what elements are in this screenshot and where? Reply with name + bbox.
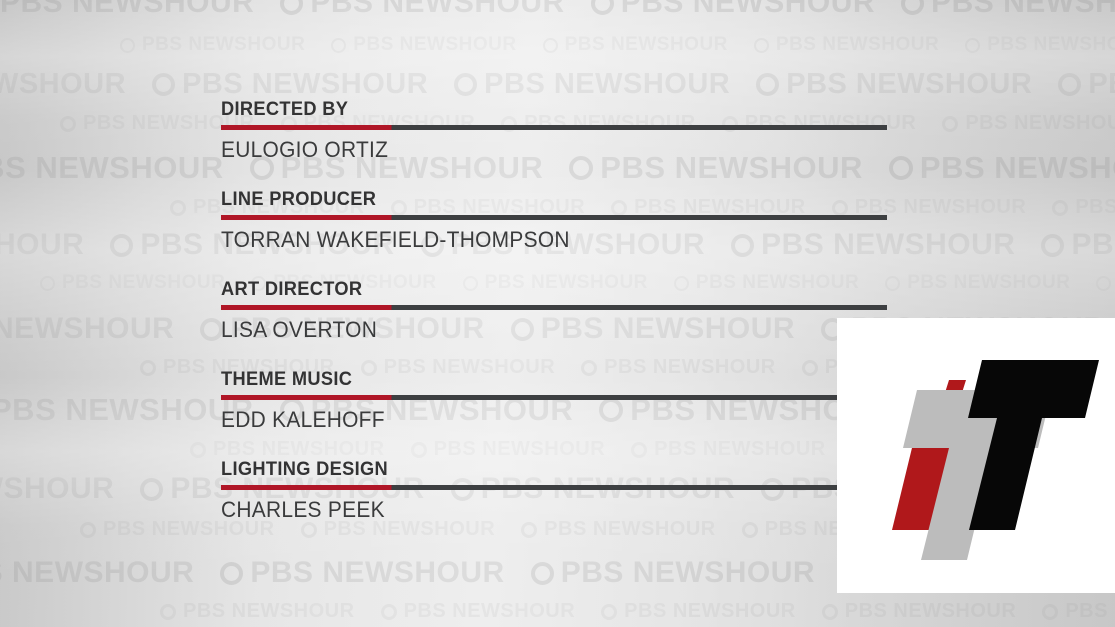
watermark-unit: PBS NEWSHOUR — [0, 392, 254, 428]
watermark-text: PBS NEWSHOUR — [965, 112, 1115, 135]
watermark-text: PBS NEWSHOUR — [353, 34, 516, 56]
watermark-unit: PBS NEWSHOUR — [1096, 272, 1115, 294]
pbs-circle-logo-icon — [965, 38, 980, 53]
watermark-text: PBS NEWSHOUR — [931, 0, 1115, 20]
watermark-unit: PBS NEWSHOUR — [591, 0, 875, 20]
watermark-unit: PBS NEWSHOUR — [1041, 228, 1115, 262]
credit-divider-rule — [221, 395, 887, 400]
watermark-text: PBS NEWSHOUR — [561, 556, 815, 590]
pbs-circle-logo-icon — [1058, 73, 1081, 96]
watermark-unit: PBS NEWSHOUR — [1052, 196, 1115, 219]
watermark-text: PBS NEWSHOUR — [62, 272, 225, 294]
watermark-text: PBS NEWSHOUR — [565, 34, 728, 56]
watermark-text: PBS NEWSHOUR — [1071, 228, 1115, 262]
watermark-text: PBS NEWSHOUR — [310, 0, 564, 20]
triple-t-logo-card — [837, 318, 1115, 593]
watermark-text: PBS NEWSHOUR — [0, 228, 84, 262]
watermark-unit: PBS NEWSHOUR — [0, 312, 174, 346]
credit-block: LIGHTING DESIGNCHARLES PEEK — [221, 459, 891, 522]
pbs-circle-logo-icon — [742, 522, 758, 538]
pbs-circle-logo-icon — [301, 522, 317, 538]
pbs-circle-logo-icon — [152, 73, 175, 96]
watermark-text: PBS NEWSHOUR — [1075, 196, 1115, 219]
credit-person-name: LISA OVERTON — [221, 317, 844, 342]
watermark-text: PBS NEWSHOUR — [786, 68, 1032, 101]
pbs-circle-logo-icon — [280, 0, 303, 15]
pbs-circle-logo-icon — [531, 562, 554, 585]
pbs-circle-logo-icon — [591, 0, 614, 15]
watermark-text: PBS NEWSHOUR — [0, 472, 114, 506]
watermark-text: PBS NEWSHOUR — [183, 600, 355, 623]
watermark-text: PBS NEWSHOUR — [907, 272, 1070, 294]
watermark-unit: PBS NEWSHOUR — [754, 34, 939, 56]
credit-person-name: CHARLES PEEK — [221, 497, 844, 522]
watermark-row: PBS NEWSHOURPBS NEWSHOURPBS NEWSHOURPBS … — [120, 34, 1115, 56]
pbs-circle-logo-icon — [120, 38, 135, 53]
watermark-unit: PBS NEWSHOUR — [0, 68, 126, 101]
pbs-circle-logo-icon — [160, 604, 176, 620]
pbs-circle-logo-icon — [754, 38, 769, 53]
pbs-circle-logo-icon — [1052, 200, 1068, 216]
watermark-text: PBS NEWSHOUR — [0, 0, 254, 20]
pbs-circle-logo-icon — [331, 38, 346, 53]
credits-screen: PBS NEWSHOURPBS NEWSHOURPBS NEWSHOURPBS … — [0, 0, 1115, 627]
watermark-text: PBS NEWSHOUR — [845, 600, 1017, 623]
credit-divider-rule — [221, 125, 887, 130]
watermark-text: PBS NEWSHOUR — [250, 556, 504, 590]
credit-role-label: LIGHTING DESIGN — [221, 459, 847, 480]
pbs-circle-logo-icon — [40, 276, 55, 291]
watermark-unit: PBS NEWSHOUR — [531, 556, 815, 590]
watermark-text: PBS NEWSHOUR — [0, 556, 194, 590]
pbs-circle-logo-icon — [454, 73, 477, 96]
watermark-unit: PBS NEWSHOUR — [1042, 600, 1115, 623]
watermark-unit: PBS NEWSHOUR — [0, 0, 254, 20]
watermark-text: PBS NEWSHOUR — [621, 0, 875, 20]
pbs-circle-logo-icon — [889, 156, 913, 180]
watermark-unit: PBS NEWSHOUR — [601, 600, 796, 623]
watermark-unit: PBS NEWSHOUR — [0, 150, 224, 186]
watermark-unit: PBS NEWSHOUR — [901, 0, 1115, 20]
watermark-text: PBS NEWSHOUR — [776, 34, 939, 56]
watermark-unit: PBS NEWSHOUR — [120, 34, 305, 56]
watermark-unit: PBS NEWSHOUR — [0, 228, 84, 262]
pbs-circle-logo-icon — [1041, 234, 1064, 257]
watermark-unit: PBS NEWSHOUR — [756, 68, 1032, 101]
watermark-text: PBS NEWSHOUR — [1065, 600, 1115, 623]
credit-person-name: TORRAN WAKEFIELD-THOMPSON — [221, 227, 844, 252]
watermark-unit: PBS NEWSHOUR — [942, 112, 1115, 135]
watermark-row: PBS NEWSHOURPBS NEWSHOURPBS NEWSHOURPBS … — [0, 0, 1115, 20]
pbs-circle-logo-icon — [521, 522, 537, 538]
watermark-text: PBS NEWSHOUR — [0, 312, 174, 346]
watermark-text: PBS NEWSHOUR — [624, 600, 796, 623]
pbs-circle-logo-icon — [1042, 604, 1058, 620]
credit-block: THEME MUSICEDD KALEHOFF — [221, 369, 891, 432]
watermark-unit: PBS NEWSHOUR — [0, 472, 114, 506]
pbs-circle-logo-icon — [543, 38, 558, 53]
watermark-text: PBS NEWSHOUR — [1088, 68, 1115, 101]
credit-block: ART DIRECTORLISA OVERTON — [221, 279, 891, 342]
watermark-text: PBS NEWSHOUR — [182, 68, 428, 101]
watermark-unit: PBS NEWSHOUR — [454, 68, 730, 101]
watermark-text: PBS NEWSHOUR — [920, 150, 1115, 186]
pbs-circle-logo-icon — [60, 116, 76, 132]
watermark-unit: PBS NEWSHOUR — [885, 272, 1070, 294]
watermark-text: PBS NEWSHOUR — [987, 34, 1115, 56]
credits-list: DIRECTED BYEULOGIO ORTIZLINE PRODUCERTOR… — [221, 99, 891, 522]
pbs-circle-logo-icon — [901, 0, 924, 15]
credit-person-name: EDD KALEHOFF — [221, 407, 844, 432]
watermark-text: PBS NEWSHOUR — [404, 600, 576, 623]
credit-block: DIRECTED BYEULOGIO ORTIZ — [221, 99, 891, 162]
watermark-row: PBS NEWSHOURPBS NEWSHOURPBS NEWSHOURPBS … — [0, 68, 1115, 101]
watermark-unit: PBS NEWSHOUR — [152, 68, 428, 101]
credit-role-label: DIRECTED BY — [221, 99, 847, 120]
watermark-text: PBS NEWSHOUR — [0, 68, 126, 101]
watermark-unit: PBS NEWSHOUR — [1058, 68, 1115, 101]
watermark-unit: PBS NEWSHOUR — [40, 272, 225, 294]
pbs-circle-logo-icon — [381, 604, 397, 620]
pbs-circle-logo-icon — [190, 442, 206, 458]
watermark-unit: PBS NEWSHOUR — [381, 600, 576, 623]
watermark-unit: PBS NEWSHOUR — [220, 556, 504, 590]
watermark-text: PBS NEWSHOUR — [142, 34, 305, 56]
pbs-circle-logo-icon — [942, 116, 958, 132]
pbs-circle-logo-icon — [140, 478, 163, 501]
credit-person-name: EULOGIO ORTIZ — [221, 137, 844, 162]
pbs-circle-logo-icon — [601, 604, 617, 620]
pbs-circle-logo-icon — [80, 522, 96, 538]
watermark-unit: PBS NEWSHOUR — [280, 0, 564, 20]
watermark-unit: PBS NEWSHOUR — [822, 600, 1017, 623]
credit-divider-rule — [221, 215, 887, 220]
credit-divider-rule — [221, 305, 887, 310]
watermark-text: PBS NEWSHOUR — [0, 150, 224, 186]
watermark-unit: PBS NEWSHOUR — [965, 34, 1115, 56]
pbs-circle-logo-icon — [220, 562, 243, 585]
watermark-row: PBS NEWSHOURPBS NEWSHOURPBS NEWSHOURPBS … — [160, 600, 1115, 623]
watermark-unit: PBS NEWSHOUR — [160, 600, 355, 623]
watermark-unit: PBS NEWSHOUR — [543, 34, 728, 56]
pbs-circle-logo-icon — [756, 73, 779, 96]
watermark-text: PBS NEWSHOUR — [0, 392, 254, 428]
triple-t-logo-art — [837, 318, 1115, 593]
credit-role-label: THEME MUSIC — [221, 369, 847, 390]
credit-role-label: ART DIRECTOR — [221, 279, 847, 300]
pbs-circle-logo-icon — [170, 200, 186, 216]
watermark-unit: PBS NEWSHOUR — [331, 34, 516, 56]
pbs-circle-logo-icon — [200, 318, 223, 341]
credit-block: LINE PRODUCERTORRAN WAKEFIELD-THOMPSON — [221, 189, 891, 252]
watermark-text: PBS NEWSHOUR — [484, 68, 730, 101]
watermark-unit: PBS NEWSHOUR — [889, 150, 1115, 186]
pbs-circle-logo-icon — [110, 234, 133, 257]
credit-role-label: LINE PRODUCER — [221, 189, 847, 210]
pbs-circle-logo-icon — [822, 604, 838, 620]
credit-divider-rule — [221, 485, 887, 490]
pbs-circle-logo-icon — [140, 360, 156, 376]
pbs-circle-logo-icon — [1096, 276, 1111, 291]
watermark-unit: PBS NEWSHOUR — [0, 556, 194, 590]
